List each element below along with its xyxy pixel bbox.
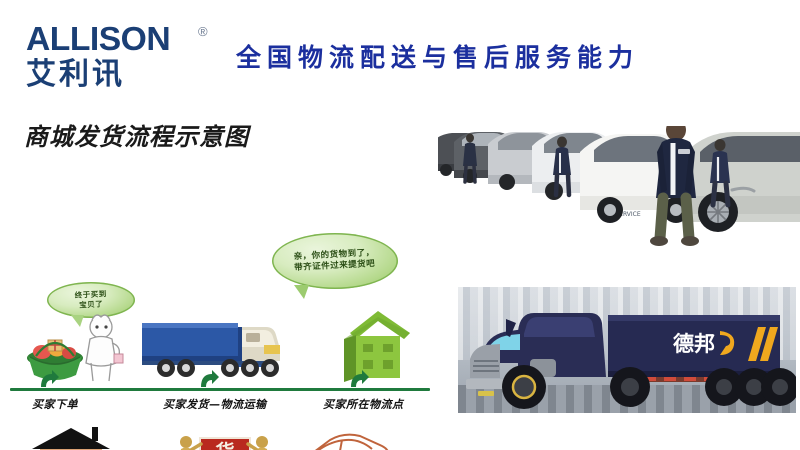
truck-graphic: 德邦 xyxy=(458,287,796,413)
two-movers-carrying-box-icon: 货 xyxy=(172,430,276,450)
flow-label-shipment-transport: 买家发货—物流运输 xyxy=(163,396,267,412)
slide-root: ALLISON ® 艾利讯 全国物流配送与售后服务能力 商城发货流程示意图 终于… xyxy=(0,0,800,450)
service-fleet-photo: SERVICE xyxy=(432,112,800,272)
orange-house-icon xyxy=(26,425,116,450)
flow-arrow-icon xyxy=(348,369,370,389)
flow-arrow-icon xyxy=(198,369,220,389)
diagram-title: 商城发货流程示意图 xyxy=(24,117,249,152)
registered-trademark-icon: ® xyxy=(198,24,208,39)
flow-label-order-placed: 买家下单 xyxy=(32,396,78,412)
shopper-figure-icon xyxy=(78,313,124,385)
flow-label-local-logistics-point: 买家所在物流点 xyxy=(323,396,404,412)
delivery-notice-bubble: 亲，你的货物到了， 带齐证件过来提货吧 xyxy=(272,233,398,289)
brand-latin-text: ALLISON xyxy=(26,22,220,55)
buyer-thought-line2: 宝贝了 xyxy=(79,299,103,309)
truck-brand-text: 德邦 xyxy=(673,332,715,356)
page-title: 全国物流配送与售后服务能力 xyxy=(236,38,756,74)
logistics-truck-photo: 德邦 xyxy=(458,287,796,413)
flow-arrow-icon xyxy=(38,369,60,389)
brand-chinese-text: 艾利讯 xyxy=(26,60,216,90)
brand-logo: ALLISON ® 艾利讯 xyxy=(26,22,216,90)
box-label: 货 xyxy=(215,440,234,450)
fleet-photo-graphic: SERVICE xyxy=(432,112,800,272)
shipping-flow-diagram: 商城发货流程示意图 终于买到 宝贝了 亲，你的货物到了， 带齐证件过来提货吧 xyxy=(0,105,440,425)
buyer-thought-line1: 终于买到 xyxy=(74,289,106,300)
sketch-car-icon xyxy=(292,427,396,450)
